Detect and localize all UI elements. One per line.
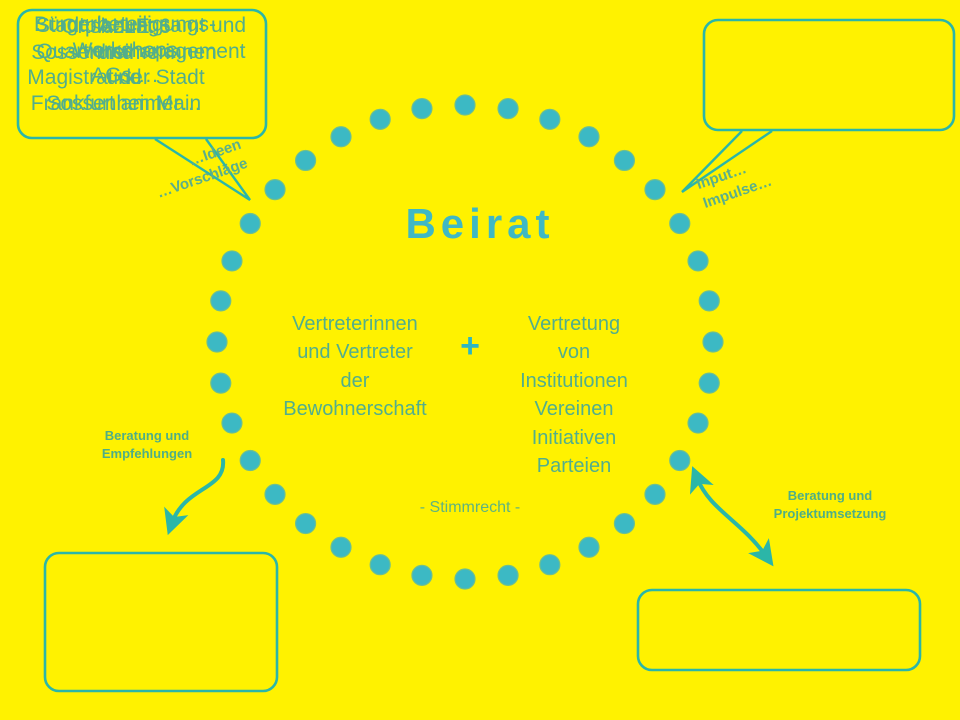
ring-dot <box>688 413 708 433</box>
ring-dot <box>455 95 475 115</box>
box-bottom-right-shape <box>638 590 920 670</box>
flow-label-beratung-empfehlungen: Beratung und Empfehlungen <box>72 427 222 462</box>
arrow-to-ortsbeirat <box>172 460 223 523</box>
ring-dot <box>412 565 432 585</box>
ring-dot <box>614 150 634 170</box>
box-bottom-left[interactable]: Ortsbeirat 6 und Magistrat der Stadt Fra… <box>0 238 232 376</box>
ring-dot <box>699 291 719 311</box>
flow-label-beratung-projektumsetzung: Beratung und Projektumsetzung <box>742 487 918 522</box>
ring-dot <box>579 537 599 557</box>
ring-dot <box>645 484 665 504</box>
ring-dot <box>296 514 316 534</box>
page-title: Beirat <box>330 200 630 248</box>
ring-dot <box>699 373 719 393</box>
center-right-column: Vertretung von Institutionen Vereinen In… <box>486 310 662 480</box>
ring-dot <box>498 99 518 119</box>
ring-dot <box>688 251 708 271</box>
center-left-column: Vertreterinnen und Vertreter der Bewohne… <box>262 310 448 424</box>
ring-dot <box>296 150 316 170</box>
ring-dot <box>455 569 475 589</box>
ring-dot <box>614 514 634 534</box>
ring-dot <box>540 555 560 575</box>
ring-dot <box>265 180 285 200</box>
ring-dot <box>540 109 560 129</box>
ring-dot <box>670 214 690 234</box>
flow-label-input-impulse: Input… Impulse… <box>694 142 806 214</box>
ring-dot <box>703 332 723 352</box>
ring-dot <box>670 451 690 471</box>
voting-rights-note: - Stimmrecht - <box>362 499 578 517</box>
ring-dot <box>331 537 351 557</box>
ring-dot <box>370 555 390 575</box>
ring-dot <box>370 109 390 129</box>
ring-dot <box>265 484 285 504</box>
ring-dot <box>579 127 599 147</box>
box-bottom-right-text: Stadtplanungsamt und Quartiersmanagement <box>0 13 282 64</box>
box-bottom-left-shape <box>45 553 277 691</box>
ring-dot <box>412 99 432 119</box>
ring-dot <box>331 127 351 147</box>
ring-dot <box>645 180 665 200</box>
diagram-canvas: ALLE Sossenheimerinnen und Sossenheimer…… <box>0 0 960 720</box>
ring-dot <box>498 565 518 585</box>
